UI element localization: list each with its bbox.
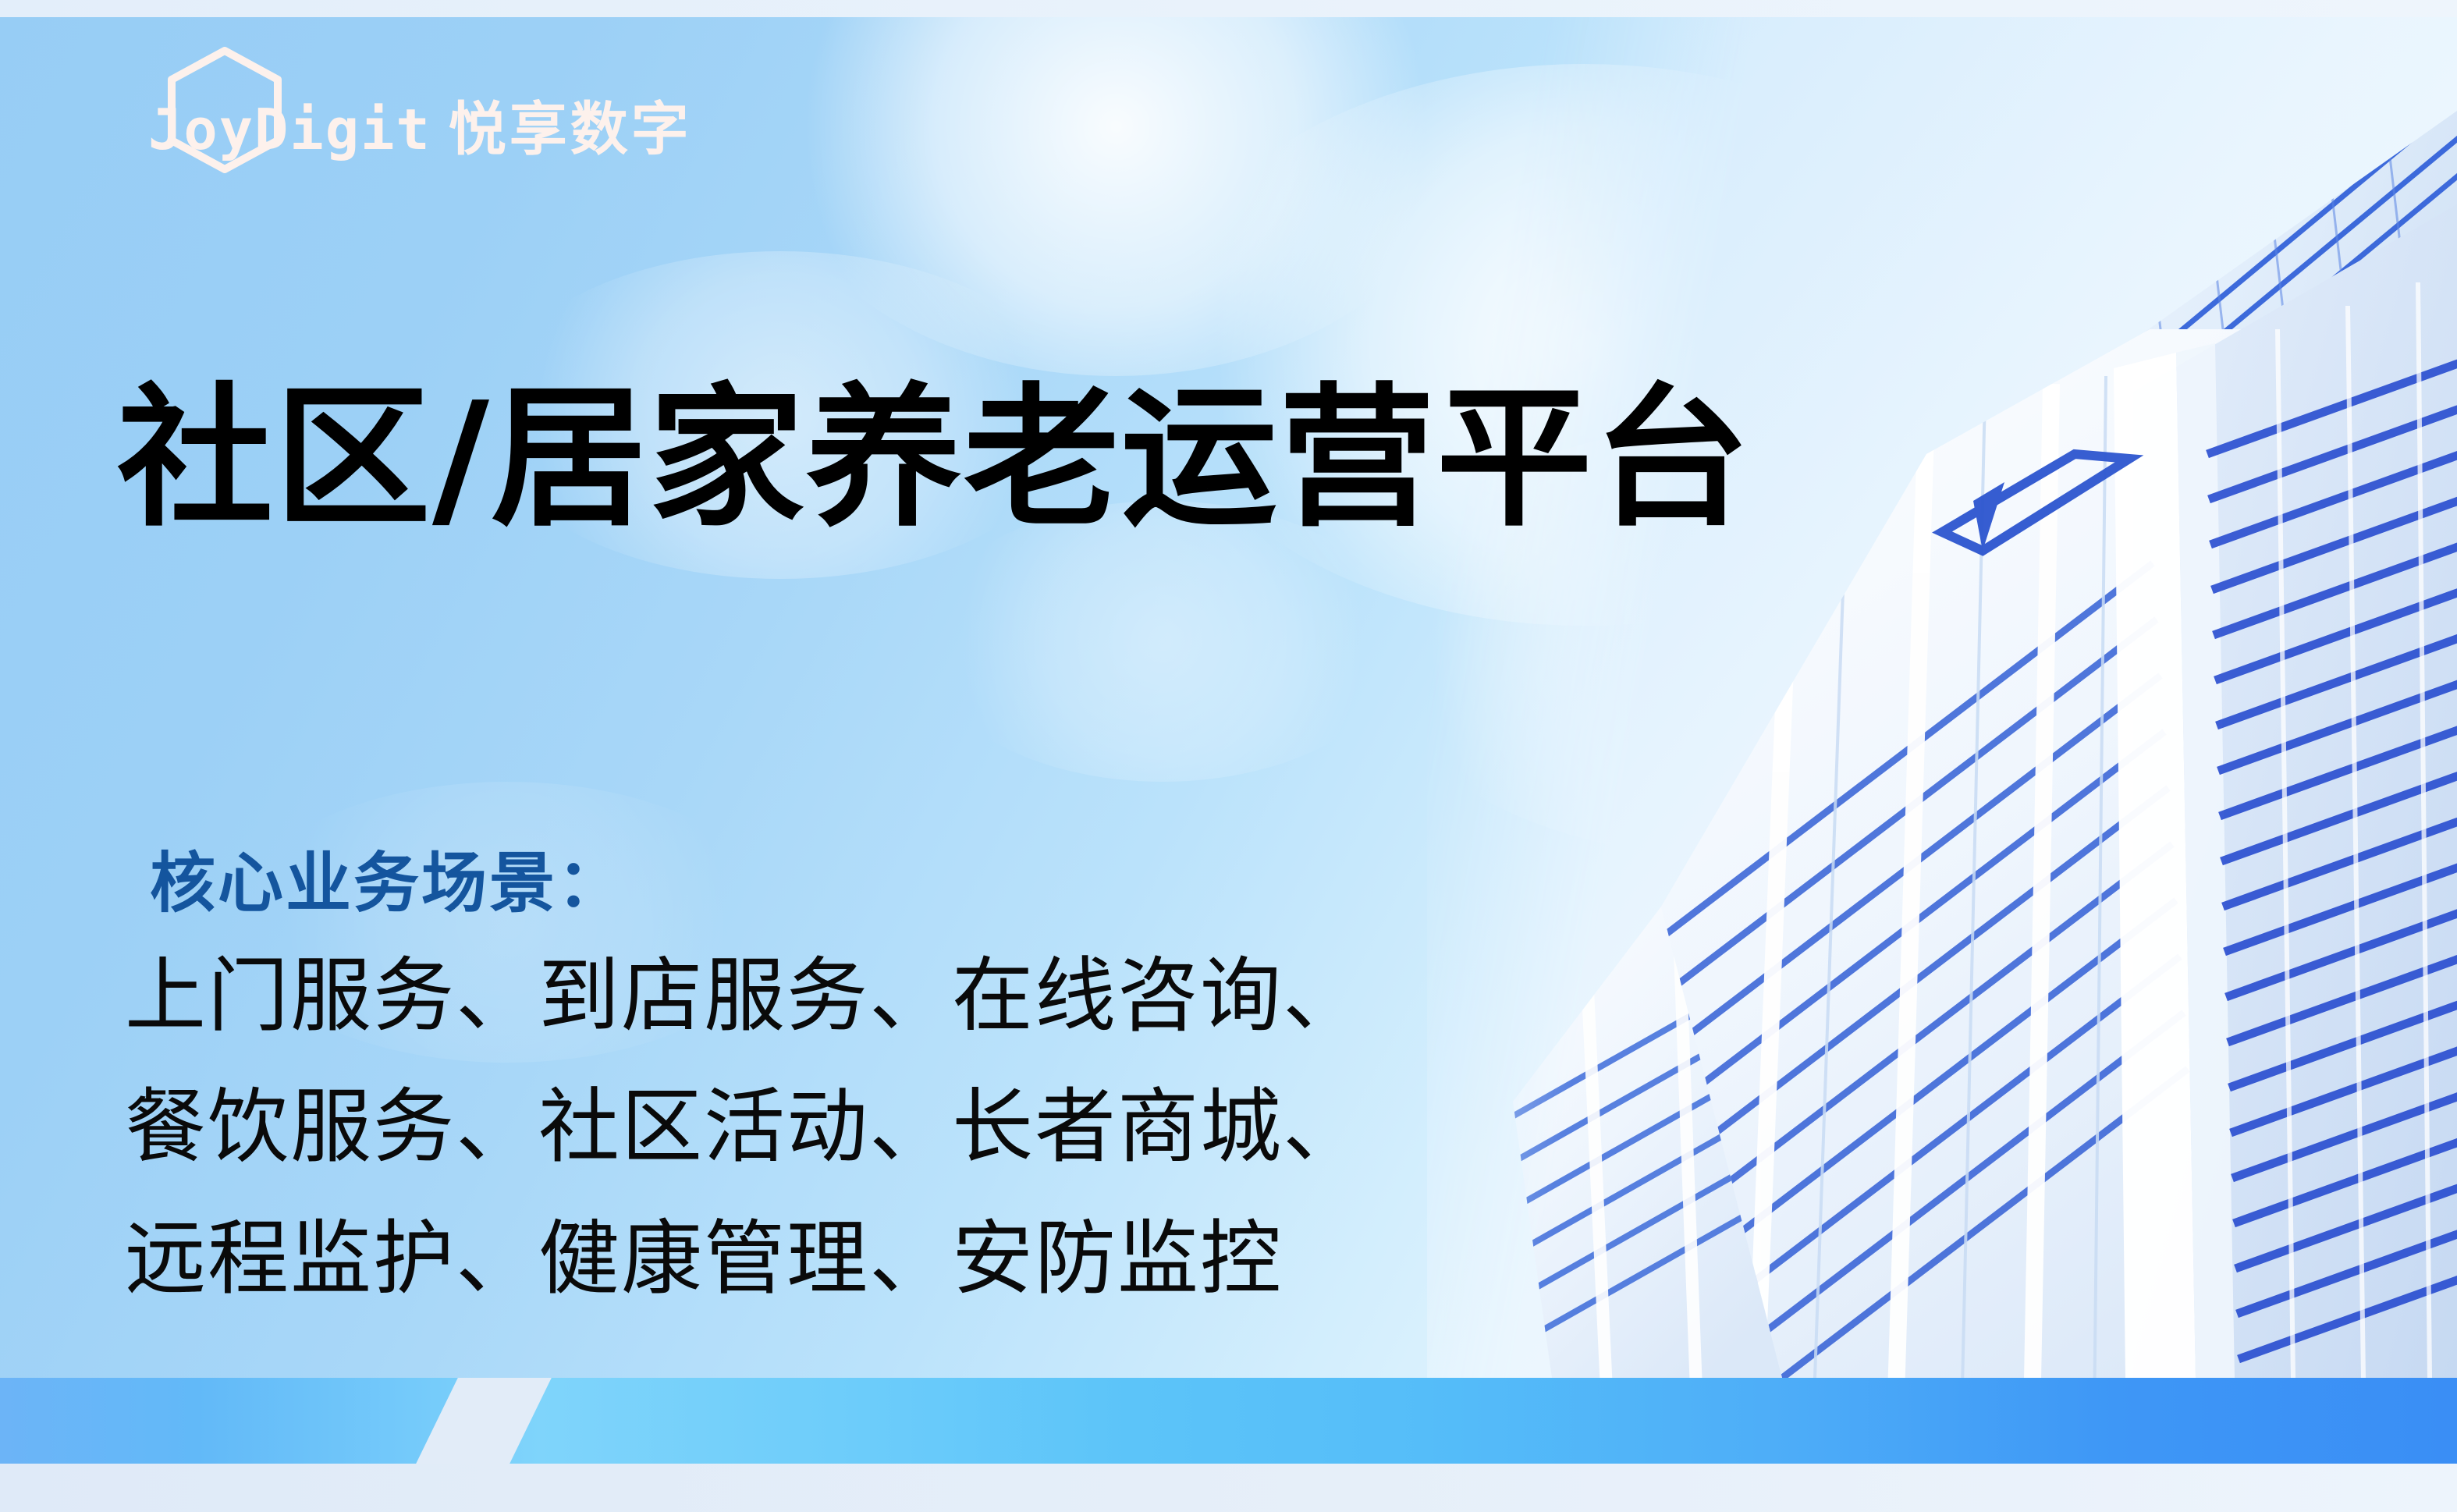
bottom-footer-strip — [0, 1464, 2457, 1512]
scenario-line: 上门服务、到店服务、在线咨询、 — [125, 930, 1365, 1061]
hero-canvas: JoyDigit 悦享数字 社区/居家养老运营平台 核心业务场景： 上门服务、到… — [0, 17, 2457, 1378]
top-edge-strip — [0, 0, 2457, 17]
skyscraper-photo — [1427, 17, 2457, 1378]
brand-logo-cjk: 悦享数字 — [449, 101, 692, 158]
brand-logo-latin: JoyDigit — [148, 101, 431, 158]
brand-logo[interactable]: JoyDigit 悦享数字 — [133, 44, 692, 176]
scenario-line: 远程监护、健康管理、安防监控 — [125, 1193, 1365, 1324]
scenario-list: 上门服务、到店服务、在线咨询、 餐饮服务、社区活动、长者商城、 远程监护、健康管… — [125, 930, 1365, 1324]
scenario-line: 餐饮服务、社区活动、长者商城、 — [125, 1061, 1365, 1192]
section-heading: 核心业务场景： — [150, 844, 625, 923]
page-title: 社区/居家养老运营平台 — [117, 377, 1752, 542]
cloud-shape — [765, 17, 1467, 376]
slide-root: JoyDigit 悦享数字 社区/居家养老运营平台 核心业务场景： 上门服务、到… — [0, 0, 2457, 1512]
band-gradient — [0, 1378, 2457, 1464]
bottom-decorative-band — [0, 1378, 2457, 1464]
